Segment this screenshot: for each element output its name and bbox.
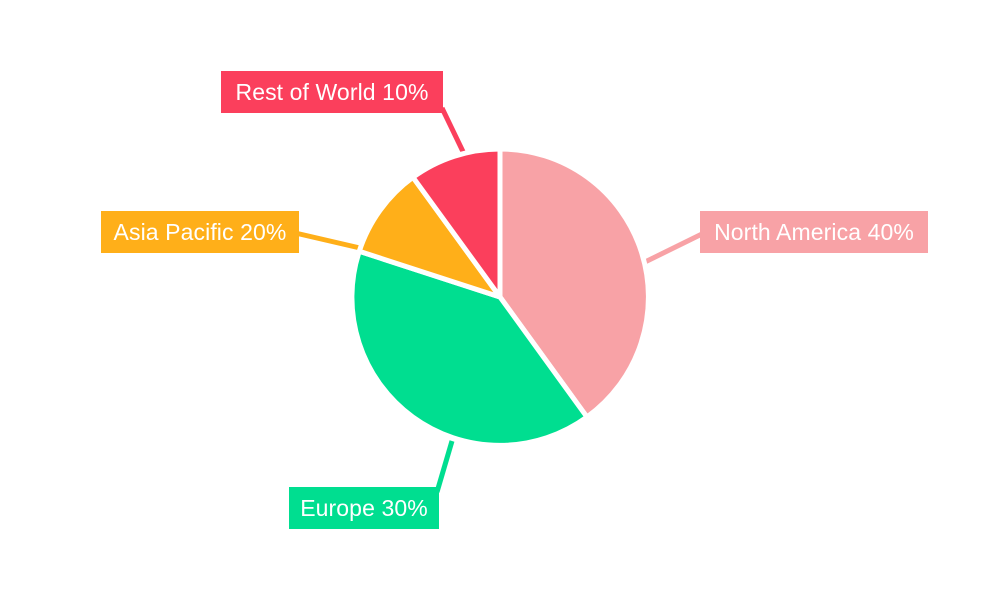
leader-line-europe bbox=[437, 441, 452, 492]
pie-slices bbox=[352, 149, 649, 445]
leader-line-north-america bbox=[645, 232, 706, 262]
pie-label-rest-of-world[interactable]: Rest of World 10% bbox=[221, 71, 443, 113]
pie-chart-figure: North America 40% Europe 30% Asia Pacifi… bbox=[0, 0, 1000, 600]
pie-label-north-america[interactable]: North America 40% bbox=[700, 211, 928, 253]
pie-label-europe[interactable]: Europe 30% bbox=[289, 487, 439, 529]
leader-line-asia-pacific bbox=[291, 232, 360, 248]
pie-label-asia-pacific[interactable]: Asia Pacific 20% bbox=[101, 211, 299, 253]
pie-chart-canvas bbox=[0, 0, 1000, 600]
